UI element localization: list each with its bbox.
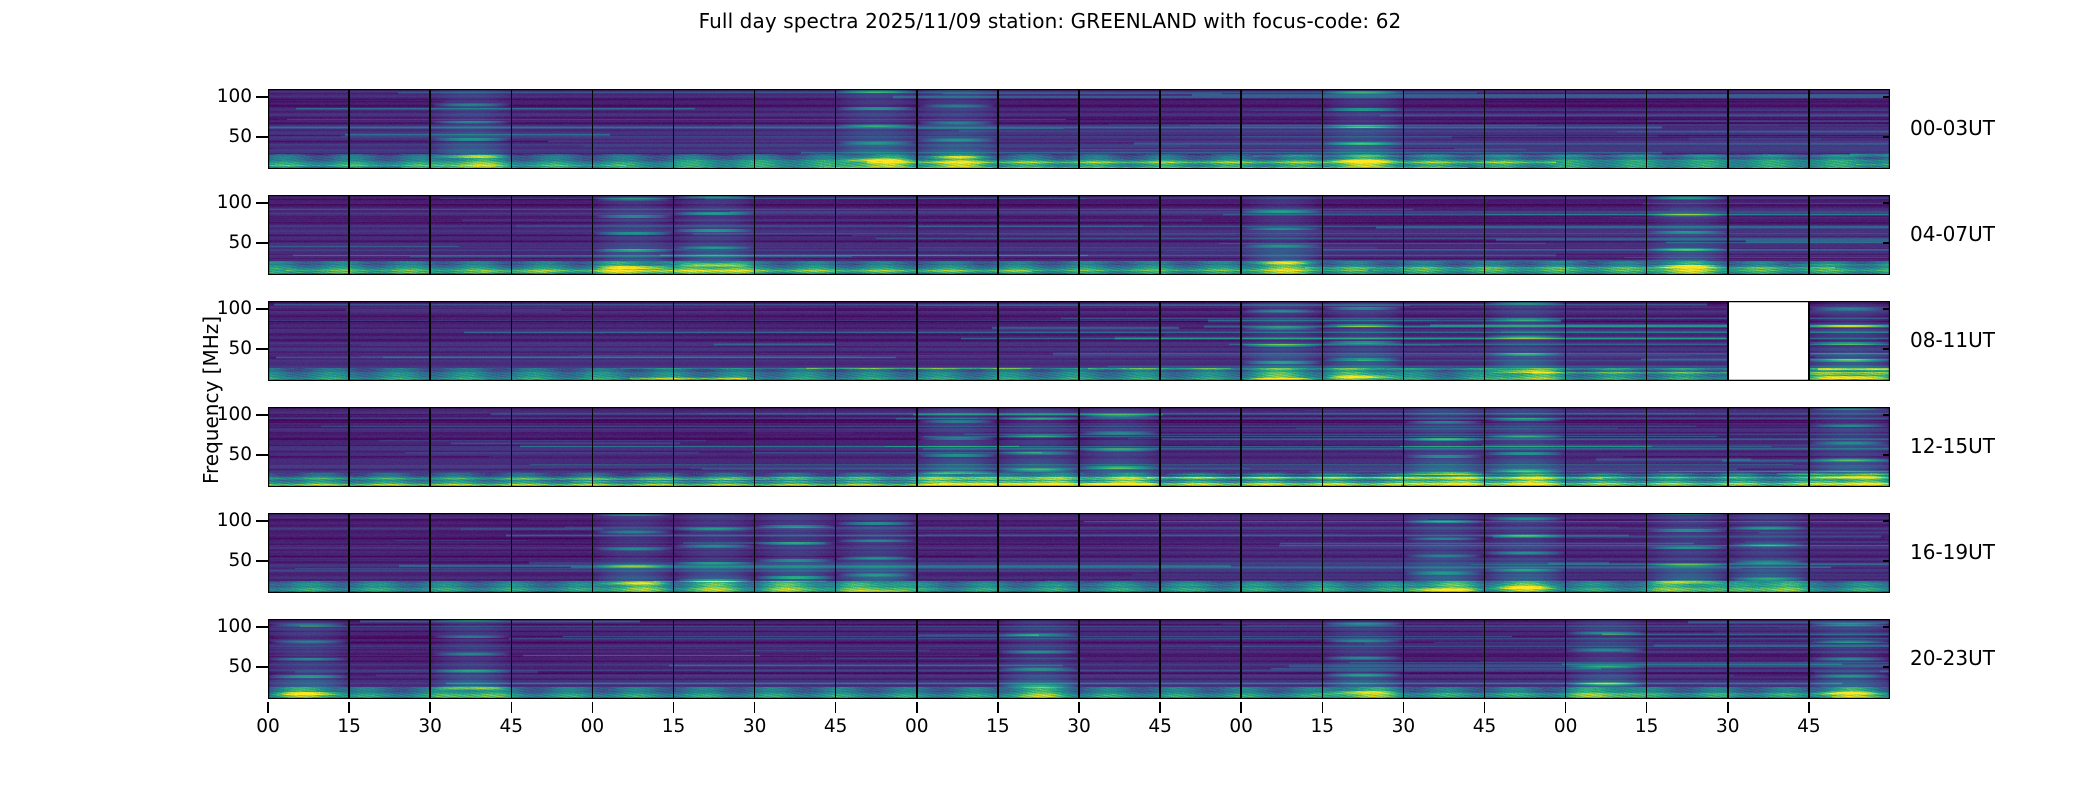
y-axis-tick-mark-right bbox=[1883, 96, 1890, 98]
x-axis-tick-mark bbox=[1565, 702, 1567, 713]
y-axis-tick-mark bbox=[256, 136, 268, 138]
row-time-label: 00-03UT bbox=[1910, 116, 1995, 140]
y-axis-tick-label: 50 bbox=[194, 234, 252, 253]
y-axis-tick-label: 50 bbox=[194, 128, 252, 147]
x-axis-tick-label: 30 bbox=[1716, 716, 1740, 737]
spectrogram-canvas bbox=[268, 407, 1890, 487]
row-time-label: 08-11UT bbox=[1910, 328, 1995, 352]
y-axis-tick-label: 50 bbox=[194, 552, 252, 571]
x-axis-tick-label: 15 bbox=[1311, 716, 1335, 737]
x-axis-tick-label: 45 bbox=[500, 716, 524, 737]
figure-title: Full day spectra 2025/11/09 station: GRE… bbox=[0, 9, 2100, 33]
y-axis-tick-mark-right bbox=[1883, 308, 1890, 310]
y-axis-label: Frequency [MHz] bbox=[196, 100, 226, 700]
y-axis-tick-mark bbox=[256, 242, 268, 244]
y-axis-tick-mark-right bbox=[1883, 560, 1890, 562]
y-axis-tick-mark-right bbox=[1883, 520, 1890, 522]
x-axis-tick-mark bbox=[997, 702, 999, 713]
y-axis-tick-label: 50 bbox=[194, 446, 252, 465]
spectrogram-canvas bbox=[268, 89, 1890, 169]
x-axis-tick-label: 00 bbox=[1554, 716, 1578, 737]
x-axis-tick-label: 30 bbox=[1392, 716, 1416, 737]
x-axis-tick-label: 15 bbox=[1635, 716, 1659, 737]
x-axis-tick-label: 30 bbox=[418, 716, 442, 737]
x-axis-tick-label: 15 bbox=[986, 716, 1010, 737]
row-time-label: 04-07UT bbox=[1910, 222, 1995, 246]
spectrogram-row: 10050 bbox=[268, 513, 1890, 593]
y-axis-tick-label: 100 bbox=[194, 512, 252, 531]
spectrogram-row: 10050 bbox=[268, 89, 1890, 169]
x-axis-tick-mark bbox=[1159, 702, 1161, 713]
x-axis: 0015304500153045001530450015304500153045 bbox=[268, 702, 1890, 762]
spectrogram-row: 10050 bbox=[268, 301, 1890, 381]
y-axis-tick-mark-right bbox=[1883, 202, 1890, 204]
spectrogram-figure: Full day spectra 2025/11/09 station: GRE… bbox=[0, 0, 2100, 800]
x-axis-tick-mark bbox=[1484, 702, 1486, 713]
x-axis-tick-mark bbox=[592, 702, 594, 713]
y-axis-tick-mark bbox=[256, 520, 268, 522]
y-axis-tick-mark bbox=[256, 202, 268, 204]
x-axis-tick-label: 30 bbox=[1067, 716, 1091, 737]
y-axis-tick-mark bbox=[256, 348, 268, 350]
y-axis-tick-mark-right bbox=[1883, 136, 1890, 138]
x-axis-tick-mark bbox=[1322, 702, 1324, 713]
y-axis-tick-mark bbox=[256, 308, 268, 310]
x-axis-tick-mark bbox=[1078, 702, 1080, 713]
x-axis-tick-mark bbox=[916, 702, 918, 713]
x-axis-tick-mark bbox=[835, 702, 837, 713]
spectrogram-row: 10050 bbox=[268, 407, 1890, 487]
y-axis-tick-mark-right bbox=[1883, 666, 1890, 668]
row-time-label: 16-19UT bbox=[1910, 540, 1995, 564]
y-axis-tick-mark-right bbox=[1883, 414, 1890, 416]
x-axis-tick-label: 00 bbox=[256, 716, 280, 737]
x-axis-tick-label: 45 bbox=[1148, 716, 1172, 737]
y-axis-tick-label: 100 bbox=[194, 88, 252, 107]
y-axis-tick-mark bbox=[256, 560, 268, 562]
x-axis-tick-label: 00 bbox=[581, 716, 605, 737]
x-axis-tick-mark bbox=[429, 702, 431, 713]
x-axis-tick-mark bbox=[1727, 702, 1729, 713]
x-axis-tick-label: 15 bbox=[662, 716, 686, 737]
y-axis-tick-mark bbox=[256, 414, 268, 416]
y-axis-tick-mark-right bbox=[1883, 626, 1890, 628]
y-axis-tick-mark bbox=[256, 626, 268, 628]
y-axis-tick-mark bbox=[256, 454, 268, 456]
x-axis-tick-label: 45 bbox=[1797, 716, 1821, 737]
x-axis-tick-label: 00 bbox=[1229, 716, 1253, 737]
y-axis-tick-label: 100 bbox=[194, 406, 252, 425]
y-axis-tick-label: 100 bbox=[194, 618, 252, 637]
x-axis-tick-mark bbox=[511, 702, 513, 713]
x-axis-tick-label: 30 bbox=[743, 716, 767, 737]
x-axis-tick-label: 00 bbox=[905, 716, 929, 737]
x-axis-tick-mark bbox=[267, 702, 269, 713]
row-time-label: 12-15UT bbox=[1910, 434, 1995, 458]
spectrogram-row: 10050 bbox=[268, 195, 1890, 275]
x-axis-tick-mark bbox=[1240, 702, 1242, 713]
y-axis-tick-mark-right bbox=[1883, 454, 1890, 456]
spectrogram-canvas bbox=[268, 513, 1890, 593]
y-axis-tick-mark-right bbox=[1883, 242, 1890, 244]
x-axis-tick-mark bbox=[754, 702, 756, 713]
x-axis-tick-label: 45 bbox=[824, 716, 848, 737]
y-axis-tick-label: 100 bbox=[194, 194, 252, 213]
missing-data-cell bbox=[1728, 301, 1809, 381]
x-axis-tick-mark bbox=[1646, 702, 1648, 713]
x-axis-tick-mark bbox=[348, 702, 350, 713]
spectrogram-canvas bbox=[268, 195, 1890, 275]
x-axis-tick-label: 15 bbox=[337, 716, 361, 737]
spectrogram-row: 10050 bbox=[268, 619, 1890, 699]
y-axis-tick-mark bbox=[256, 96, 268, 98]
x-axis-tick-mark bbox=[673, 702, 675, 713]
x-axis-tick-label: 45 bbox=[1473, 716, 1497, 737]
y-axis-tick-label: 50 bbox=[194, 340, 252, 359]
row-time-label: 20-23UT bbox=[1910, 646, 1995, 670]
spectrogram-canvas bbox=[268, 619, 1890, 699]
x-axis-tick-mark bbox=[1403, 702, 1405, 713]
spectrogram-canvas bbox=[268, 301, 1890, 381]
y-axis-tick-mark bbox=[256, 666, 268, 668]
y-axis-tick-mark-right bbox=[1883, 348, 1890, 350]
y-axis-tick-label: 50 bbox=[194, 658, 252, 677]
x-axis-tick-mark bbox=[1808, 702, 1810, 713]
y-axis-tick-label: 100 bbox=[194, 300, 252, 319]
